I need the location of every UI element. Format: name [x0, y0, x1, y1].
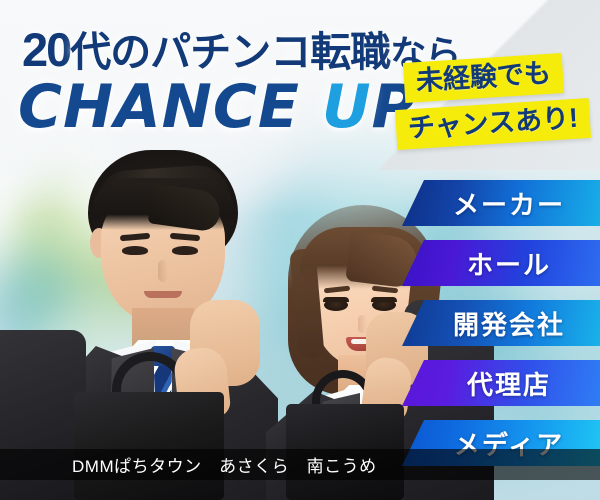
ad-banner[interactable]: 20代のパチンコ転職なら CHANCE UP 未経験でも チャンスあり! メーカ…	[0, 0, 600, 500]
category-button-developer[interactable]: 開発会社	[402, 300, 600, 346]
man-eye-right	[172, 246, 198, 255]
man-fringe	[92, 178, 234, 230]
headline-number: 20	[22, 23, 70, 76]
category-list: メーカー ホール 開発会社 代理店 メディア	[378, 180, 600, 480]
logo-letter-u: U	[322, 72, 372, 142]
briefcase-left	[74, 392, 224, 500]
man-eye-left	[122, 246, 148, 255]
headline: 20代のパチンコ転職なら	[22, 18, 460, 78]
category-label: メーカー	[437, 185, 565, 222]
category-label: 開発会社	[437, 305, 565, 342]
man-nose	[158, 260, 168, 282]
caption-text: DMMぱちタウン あさくら 南こうめ	[0, 452, 377, 477]
man-mouth	[144, 291, 182, 298]
headline-main: 代のパチンコ転職	[70, 29, 390, 75]
category-label: ホール	[451, 245, 551, 282]
category-button-hall[interactable]: ホール	[402, 240, 600, 286]
brand-logo: CHANCE UP	[18, 72, 417, 142]
category-button-agency[interactable]: 代理店	[402, 360, 600, 406]
caption-bar: DMMぱちタウン あさくら 南こうめ	[0, 449, 600, 480]
woman-eyelash-left	[323, 297, 349, 302]
category-button-maker[interactable]: メーカー	[402, 180, 600, 226]
logo-word-chance: CHANCE	[18, 72, 300, 142]
category-label: 代理店	[451, 365, 551, 402]
